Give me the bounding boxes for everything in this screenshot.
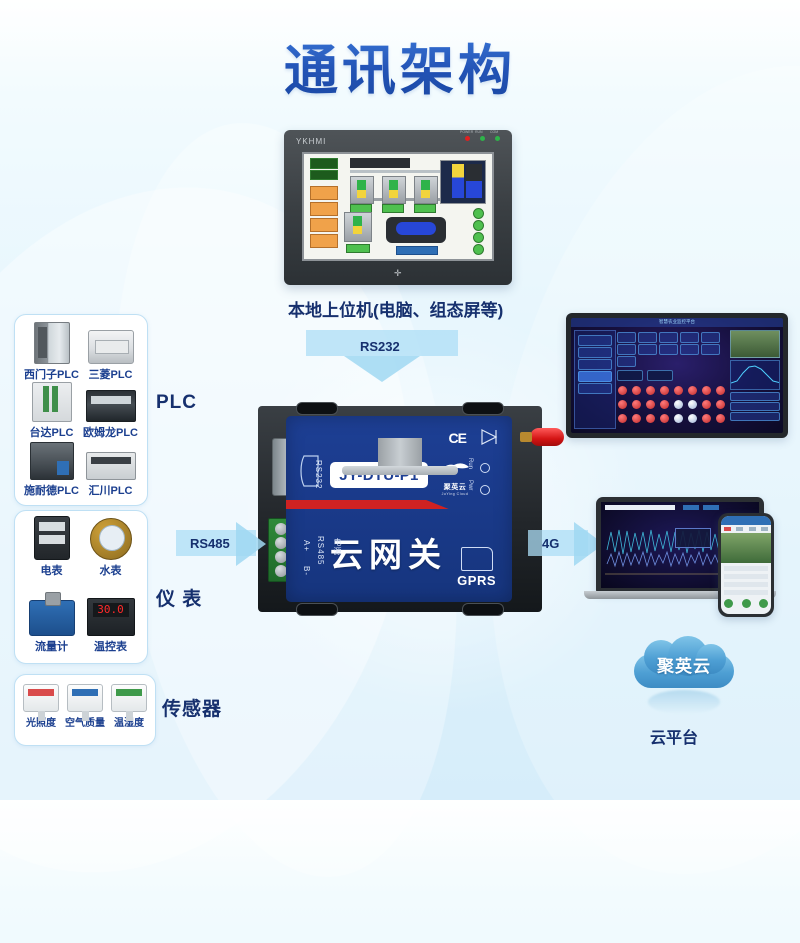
power-port-label: 电源	[332, 538, 343, 556]
dashboard-header-bar: 智慧农业监控平台	[571, 318, 783, 327]
dashboard-sidebar[interactable]	[574, 330, 616, 429]
gprs-module: GPRS	[457, 547, 496, 588]
led-pwr-indicator	[480, 485, 490, 495]
rs485-port-label: RS485	[316, 536, 325, 565]
hmi-led-label-power: POWER	[460, 130, 473, 134]
list-item[interactable]: 电表	[22, 520, 81, 578]
dashboard-title: 智慧农业监控平台	[659, 319, 695, 325]
list-item-label: 水表	[100, 562, 122, 578]
rs485-arrow	[236, 522, 266, 566]
water-meter-icon	[90, 518, 132, 560]
hmi-led-power	[465, 136, 470, 141]
phone-control-button[interactable]	[724, 599, 733, 608]
temp-humidity-sensor-icon	[111, 684, 147, 712]
gateway-device[interactable]: RS232 JY-DTU-P1 聚英云 JuYing Cloud CE Run …	[258, 398, 542, 620]
flow-meter-icon	[29, 600, 75, 636]
list-item-label: 施耐德PLC	[24, 482, 79, 498]
fourg-label: 4G	[542, 536, 559, 551]
list-item[interactable]: 温湿度	[107, 682, 151, 729]
hmi-panel: YKHMI POWER RUN COM	[284, 130, 512, 285]
delta-plc-icon	[32, 382, 72, 422]
list-item[interactable]: 西门子PLC	[22, 324, 81, 382]
phone-control-button[interactable]	[759, 599, 768, 608]
led-pwr-label: Pwr	[467, 480, 473, 490]
list-item-label: 三菱PLC	[89, 366, 133, 382]
phone-control-button[interactable]	[742, 599, 751, 608]
phone-screen[interactable]	[721, 516, 771, 614]
meters-group-box: 电表 水表 流量计 温控表	[14, 510, 148, 664]
antenna	[530, 428, 564, 446]
plc-group-label: PLC	[156, 392, 197, 414]
brand-name-en: JuYing Cloud	[438, 492, 472, 496]
terminal-a-label: A+	[302, 540, 311, 552]
omron-plc-icon	[86, 390, 136, 422]
mitsubishi-plc-icon	[88, 330, 134, 364]
phone-camera-feed	[721, 533, 771, 563]
led-run-label: Run	[467, 458, 473, 469]
electric-meter-icon	[34, 516, 70, 560]
cloud-caption: 云平台	[650, 724, 698, 748]
siemens-plc-icon	[34, 322, 70, 364]
gateway-red-band	[286, 500, 512, 509]
list-item-label: 流量计	[35, 638, 68, 654]
temperature-controller-icon	[87, 598, 135, 636]
gateway-product-name: 云网关	[330, 528, 447, 576]
monitor-base	[342, 466, 458, 475]
rs232-label: RS232	[360, 339, 400, 354]
list-item-label: 欧姆龙PLC	[83, 424, 138, 440]
cloud-reflection	[648, 690, 720, 714]
cloud-brand-name: 聚英云	[634, 652, 734, 677]
dashboard-main-panel	[617, 330, 727, 429]
list-item[interactable]: 汇川PLC	[81, 440, 140, 498]
list-item[interactable]: 空气质量	[63, 682, 107, 729]
sensors-group-box: 光照度 空气质量 温湿度	[14, 674, 156, 746]
hmi-home-icon[interactable]: ✛	[394, 269, 403, 278]
monitor-stand	[378, 438, 422, 468]
mount-hole-tr	[462, 402, 504, 415]
dashboard-right-panel	[730, 330, 780, 429]
mount-hole-bl	[296, 603, 338, 616]
trend-chart	[730, 360, 780, 390]
cloud-platform-icon: 聚英云	[634, 636, 734, 688]
list-item-label: 西门子PLC	[24, 366, 79, 382]
list-item[interactable]: 流量计	[22, 596, 81, 654]
sensors-group-label: 传感器	[162, 694, 222, 721]
diagram-canvas: 通讯架构 YKHMI POWER RUN COM	[0, 0, 800, 800]
phone-app-header	[721, 516, 771, 525]
hmi-led-label-com: COM	[490, 130, 498, 134]
list-item-label: 台达PLC	[30, 424, 74, 440]
sim-card-icon	[461, 547, 493, 571]
page-title: 通讯架构	[0, 26, 800, 105]
led-run-indicator	[480, 463, 490, 473]
antenna-icon	[480, 428, 504, 448]
mount-hole-br	[462, 603, 504, 616]
list-item-label: 电表	[41, 562, 63, 578]
hmi-led-group: POWER RUN COM	[465, 136, 500, 141]
gprs-label: GPRS	[457, 573, 496, 588]
plc-group-box: 西门子PLC 三菱PLC 台达PLC 欧姆龙PLC 施耐德PLC 汇川PLC	[14, 314, 148, 506]
rs232-port-label: RS232	[314, 460, 323, 489]
hmi-caption: 本地上位机(电脑、组态屏等)	[288, 296, 503, 321]
inovance-plc-icon	[86, 452, 136, 480]
camera-feed-thumbnail	[730, 330, 780, 358]
list-item[interactable]: 欧姆龙PLC	[81, 382, 140, 440]
hmi-scada-screen[interactable]	[302, 152, 494, 261]
illuminance-sensor-icon	[23, 684, 59, 712]
list-item-label: 温控表	[94, 638, 127, 654]
air-quality-sensor-icon	[67, 684, 103, 712]
hmi-brand-label: YKHMI	[296, 137, 326, 146]
desktop-monitor[interactable]: 智慧农业监控平台	[566, 313, 788, 438]
list-item[interactable]: 台达PLC	[22, 382, 81, 440]
led-group: Run Pwr	[475, 458, 490, 495]
monitor-screen[interactable]: 智慧农业监控平台	[571, 318, 783, 433]
list-item-label: 汇川PLC	[89, 482, 133, 498]
rs232-arrow	[344, 356, 420, 382]
smartphone[interactable]	[718, 513, 774, 617]
terminal-b-label: B-	[302, 566, 311, 576]
hmi-led-com	[495, 136, 500, 141]
list-item[interactable]: 水表	[81, 520, 140, 578]
list-item[interactable]: 三菱PLC	[81, 324, 140, 382]
list-item[interactable]: 施耐德PLC	[22, 440, 81, 498]
meters-group-label: 仪 表	[156, 584, 202, 611]
hmi-led-run	[480, 136, 485, 141]
schneider-plc-icon	[30, 442, 74, 480]
hmi-led-label-run: RUN	[475, 130, 483, 134]
ce-mark: CE	[449, 430, 466, 446]
rs485-label: RS485	[190, 536, 230, 551]
mount-hole-tl	[296, 402, 338, 415]
list-item[interactable]: 光照度	[19, 682, 63, 729]
list-item[interactable]: 温控表	[81, 596, 140, 654]
